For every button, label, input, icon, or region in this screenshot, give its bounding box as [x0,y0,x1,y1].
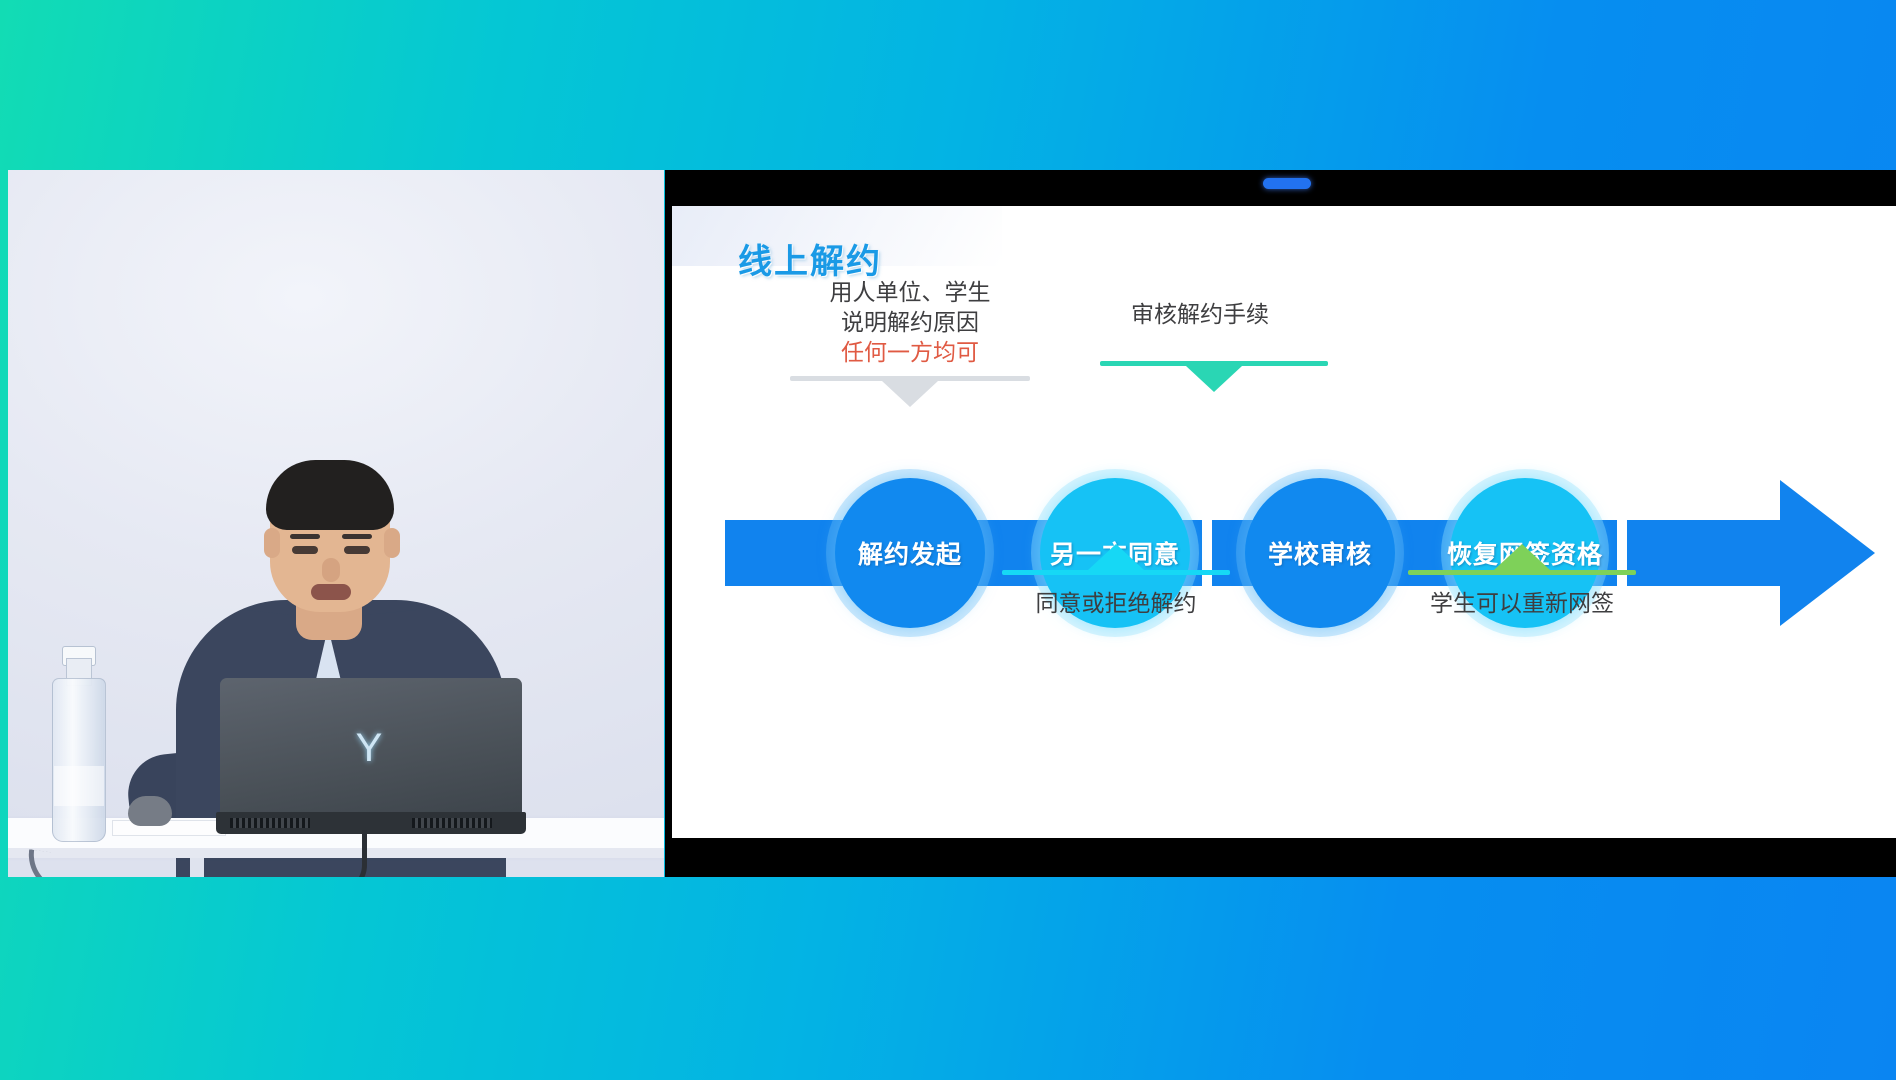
papers [112,820,226,836]
flow-bar-gap [1202,520,1212,586]
callout-line: 用人单位、学生 [770,278,1050,308]
screen-root: Y 线上解约 解约发起 另一方同意 学校审核 恢复网签资格 [0,0,1896,1080]
callout-connector-line [1408,570,1636,575]
monitor-power-indicator-icon [1263,178,1311,189]
callout-line: 审核解约手续 [1060,300,1340,330]
callout-connector-triangle-down-icon [882,381,938,407]
laptop-logo-icon: Y [348,726,390,770]
flow-node-initiation[interactable]: 解约发起 [835,478,985,628]
callout-text: 学生可以重新网签 [1430,590,1614,616]
callout-line: 说明解约原因 [770,308,1050,338]
presenter-mouth [311,584,351,600]
callout-highlight-line: 任何一方均可 [770,338,1050,368]
flow-node-label: 学校审核 [1268,535,1372,571]
presenter-eyebrow-right [342,534,372,539]
desk-leg [190,858,204,877]
water-bottle [52,678,106,842]
callout-connector-triangle-down-icon [1186,366,1242,392]
computer-mouse [128,796,172,826]
laptop-vent-left [230,818,310,828]
callout-resign-online: 学生可以重新网签 [1382,584,1662,618]
presenter-ear-right [384,528,400,558]
callout-review: 审核解约手续 [1060,300,1340,330]
flow-bar-gap [1617,520,1627,586]
presenter-nose [322,558,340,582]
presenter-ear-left [264,528,280,558]
flow-node-label: 解约发起 [858,535,962,571]
flow-arrow-head-icon [1780,480,1875,626]
bottle-label [54,766,104,806]
presenter-eyebrow-left [290,534,320,539]
callout-text: 同意或拒绝解约 [1036,590,1197,616]
flow-node-school-review[interactable]: 学校审核 [1245,478,1395,628]
presenter-eye-right [344,546,370,554]
callout-initiation: 用人单位、学生 说明解约原因 任何一方均可 [770,278,1050,368]
callout-agree-or-refuse: 同意或拒绝解约 [976,584,1256,618]
callout-connector-triangle-up-icon [1494,544,1550,570]
presenter-eye-left [292,546,318,554]
slide-title: 线上解约 [738,234,882,283]
laptop-cable [318,830,367,877]
callout-connector-triangle-up-icon [1088,544,1144,570]
presenter-video-feed: Y [8,170,664,877]
presenter-hair [266,460,394,530]
presentation-slide: 线上解约 解约发起 另一方同意 学校审核 恢复网签资格 用人单位、学生 说明解约… [672,206,1896,838]
laptop-vent-right [412,818,492,828]
callout-connector-line [1002,570,1230,575]
